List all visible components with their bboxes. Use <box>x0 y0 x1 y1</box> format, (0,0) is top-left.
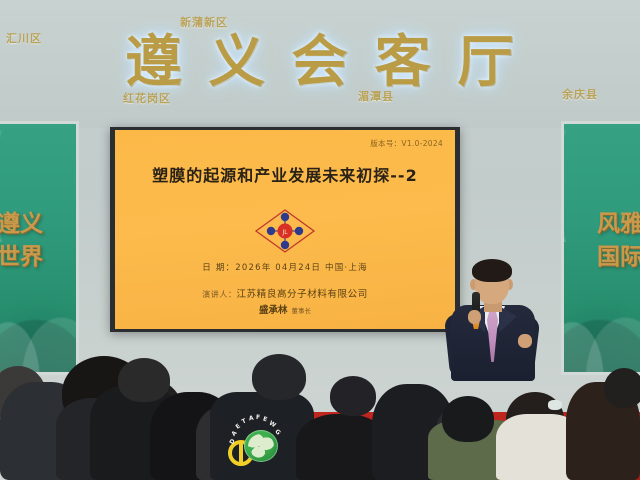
wall-upper-band <box>0 0 640 128</box>
slide-date-line: 日 期：2026年 04月24日 中国·上海 <box>115 261 455 273</box>
district-label-huichuan: 汇川区 <box>6 30 42 46</box>
banner-left-text: 遵义 世界 <box>0 208 58 275</box>
slide-date-label: 日 期： <box>202 263 235 273</box>
presenter-figure <box>441 248 553 380</box>
audience-head <box>118 358 170 402</box>
photo-scene: 遵 义 会 客 厅 汇川区 新蒲新区 红花岗区 湄潭县 余庆县 遵义 世界 风雅… <box>0 0 640 480</box>
banner-left-line1: 遵义 <box>0 208 58 241</box>
slide-speaker-line: 演讲人：江苏精良高分子材料有限公司 <box>115 286 455 300</box>
audience-head <box>252 354 306 400</box>
presenter-gesturing-hand <box>518 334 532 348</box>
audience-head <box>604 368 640 408</box>
audience-head <box>442 396 494 442</box>
slide-title: 塑膜的起源和产业发展未来初探--2 <box>115 162 455 186</box>
district-label-xinpu: 新蒲新区 <box>180 14 228 30</box>
audience-head <box>330 376 376 416</box>
projection-screen: 版本号：V1.0-2024 塑膜的起源和产业发展未来初探--2 JL 日 期：2… <box>110 127 460 332</box>
mountain-pattern-icon <box>564 264 640 372</box>
district-label-meitan: 湄潭县 <box>358 88 394 104</box>
hoodie-graphic: D A E T A F E W G <box>226 414 288 464</box>
mountain-pattern-icon <box>0 264 76 372</box>
presenter-hand-holding-mic <box>468 310 481 324</box>
svg-text:JL: JL <box>281 229 288 236</box>
banner-right-line1: 风雅 <box>582 208 640 241</box>
banner-right-text: 风雅 国际 <box>582 208 640 275</box>
hoodie-text-arc: D A E T A F E W G <box>226 414 288 464</box>
presentation-slide: 版本号：V1.0-2024 塑膜的起源和产业发展未来初探--2 JL 日 期：2… <box>115 130 455 329</box>
slide-speaker-name-line: 盛承林董事长 <box>115 302 455 316</box>
decor-banner-left: 遵义 世界 <box>0 124 76 372</box>
slide-date-value: 2026年 04月24日 中国·上海 <box>235 263 367 273</box>
company-logo-icon: JL <box>254 208 316 254</box>
slide-version-label: 版本号：V1.0-2024 <box>370 138 443 149</box>
presenter-hair <box>472 259 512 282</box>
slide-speaker-name: 盛承林 <box>259 305 288 316</box>
slide-speaker-company: 江苏精良高分子材料有限公司 <box>237 289 368 300</box>
district-label-honghua: 红花岗区 <box>123 90 171 106</box>
district-label-yuqing: 余庆县 <box>562 86 598 102</box>
banner-left-line2: 世界 <box>0 241 58 274</box>
banner-right-line2: 国际 <box>582 241 640 274</box>
hair-clip-icon <box>548 400 562 410</box>
decor-banner-right: 风雅 国际 <box>564 124 640 372</box>
slide-speaker-role: 董事长 <box>292 307 312 315</box>
slide-speaker-label: 演讲人： <box>202 290 236 299</box>
